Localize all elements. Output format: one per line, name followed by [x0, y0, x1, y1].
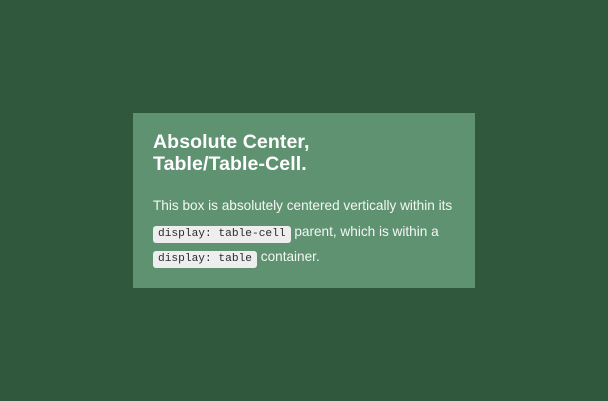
page-background: Absolute Center, Table/Table-Cell. This … — [0, 0, 608, 401]
page-title: Absolute Center, Table/Table-Cell. — [153, 131, 455, 175]
description-segment-2: parent, which is within a — [291, 224, 439, 239]
centered-panel: Absolute Center, Table/Table-Cell. This … — [133, 113, 475, 288]
panel-description: This box is absolutely centered vertical… — [153, 193, 455, 270]
description-segment-3: container. — [257, 249, 320, 264]
table-cell-centering-wrapper: Absolute Center, Table/Table-Cell. This … — [0, 0, 608, 401]
code-chip-table: display: table — [153, 251, 257, 268]
description-segment-1: This box is absolutely centered vertical… — [153, 198, 452, 213]
code-chip-table-cell: display: table-cell — [153, 226, 291, 243]
